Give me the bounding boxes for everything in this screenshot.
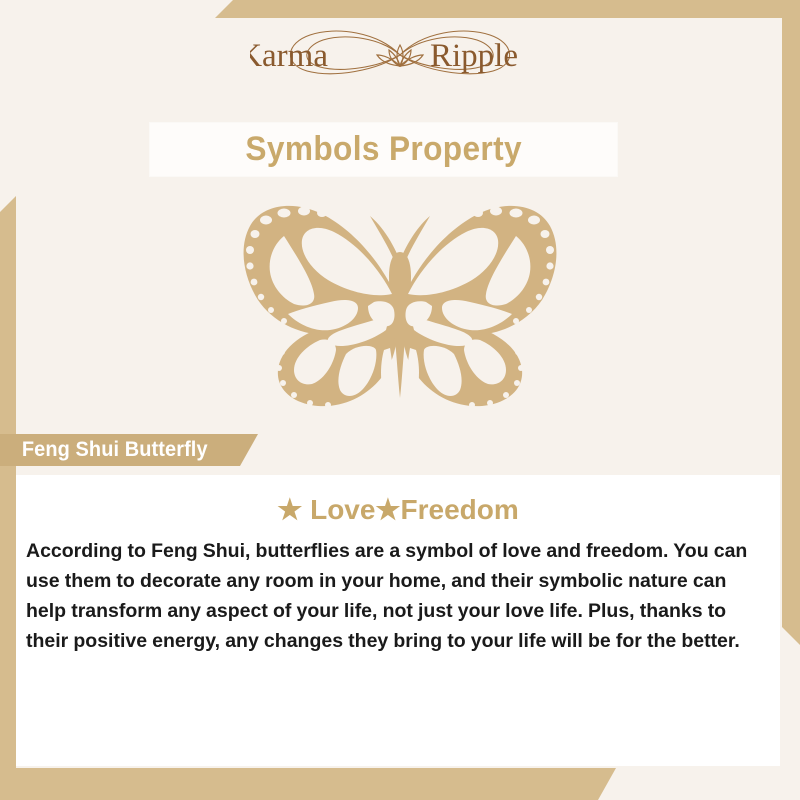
butterfly-illustration: [0, 200, 800, 412]
description-paragraph: According to Feng Shui, butterflies are …: [26, 536, 770, 656]
page-title: Symbols Property: [245, 130, 522, 169]
logo-word-left: Karma: [250, 38, 328, 74]
logo-word-right: Ripple: [430, 38, 518, 74]
frame-bar-bottom: [0, 768, 616, 800]
banner-label: Feng Shui Butterfly: [0, 438, 208, 462]
feng-shui-butterfly-banner: Feng Shui Butterfly: [0, 434, 258, 466]
description-panel: ★ Love★Freedom According to Feng Shui, b…: [16, 475, 780, 766]
brand-logo: Karma Ripple: [0, 16, 800, 94]
section-title-band: Symbols Property: [150, 123, 617, 176]
karma-ripple-logo-icon: Karma Ripple: [250, 16, 550, 94]
butterfly-icon: [222, 200, 578, 412]
tagline: ★ Love★Freedom: [16, 493, 780, 526]
product-infographic-card: Karma Ripple Symbols Property: [0, 0, 800, 800]
